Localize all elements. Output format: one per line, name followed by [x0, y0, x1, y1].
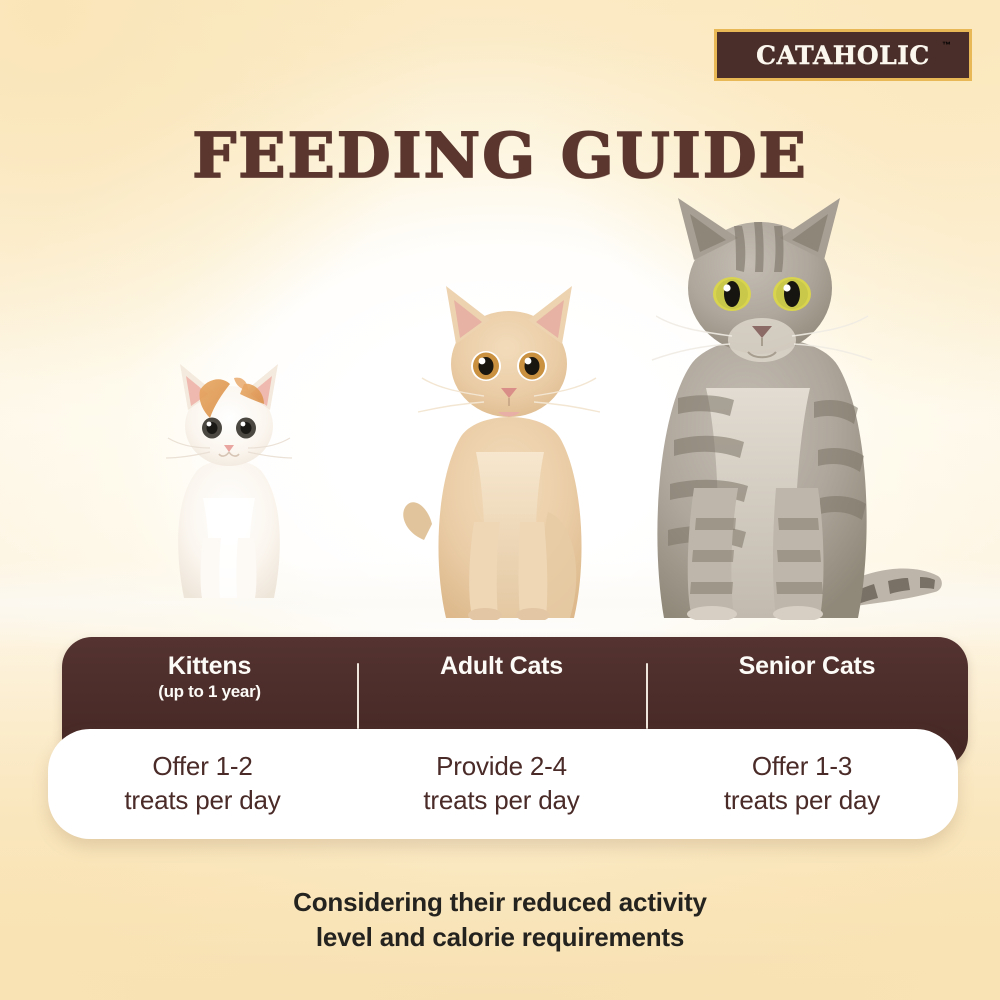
kitten-photo — [148, 348, 310, 600]
feeding-guide-graphic: CATAHOLIC ™ FEEDING GUIDE — [0, 0, 1000, 1000]
column-divider-1 — [357, 663, 359, 729]
trademark-icon: ™ — [942, 40, 951, 50]
table-cell-kittens-line1: Offer 1-2 — [152, 750, 252, 784]
column-divider-2 — [646, 663, 648, 729]
brand-logo: CATAHOLIC ™ — [714, 29, 972, 81]
table-header-adult-cats-label: Adult Cats — [440, 653, 563, 679]
table-cell-senior-cats-line2: treats per day — [724, 784, 880, 818]
page-title: FEEDING GUIDE — [0, 119, 1000, 192]
table-header-kittens-subtitle: (up to 1 year) — [158, 682, 261, 702]
table-header-senior-cats-label: Senior Cats — [739, 653, 876, 679]
table-cell-adult-cats-line2: treats per day — [423, 784, 579, 818]
footer-note: Considering their reduced activity level… — [0, 885, 1000, 955]
footer-note-line1: Considering their reduced activity — [0, 885, 1000, 920]
table-cell-adult-cats: Provide 2-4 treats per day — [357, 729, 646, 839]
table-cell-senior-cats-line1: Offer 1-3 — [752, 750, 852, 784]
table-cell-adult-cats-line1: Provide 2-4 — [436, 750, 567, 784]
adult-cat-photo — [398, 272, 620, 620]
table-header-kittens-label: Kittens — [168, 653, 251, 679]
brand-logo-text: CATAHOLIC — [756, 41, 930, 70]
table-cell-kittens-line2: treats per day — [124, 784, 280, 818]
senior-cat-photo — [638, 188, 950, 620]
feeding-table: Kittens (up to 1 year) Adult Cats Senior… — [0, 637, 1000, 847]
table-cell-kittens: Offer 1-2 treats per day — [48, 729, 357, 839]
table-cell-senior-cats: Offer 1-3 treats per day — [646, 729, 958, 839]
feeding-table-value-row: Offer 1-2 treats per day Provide 2-4 tre… — [48, 729, 958, 839]
footer-note-line2: level and calorie requirements — [0, 920, 1000, 955]
